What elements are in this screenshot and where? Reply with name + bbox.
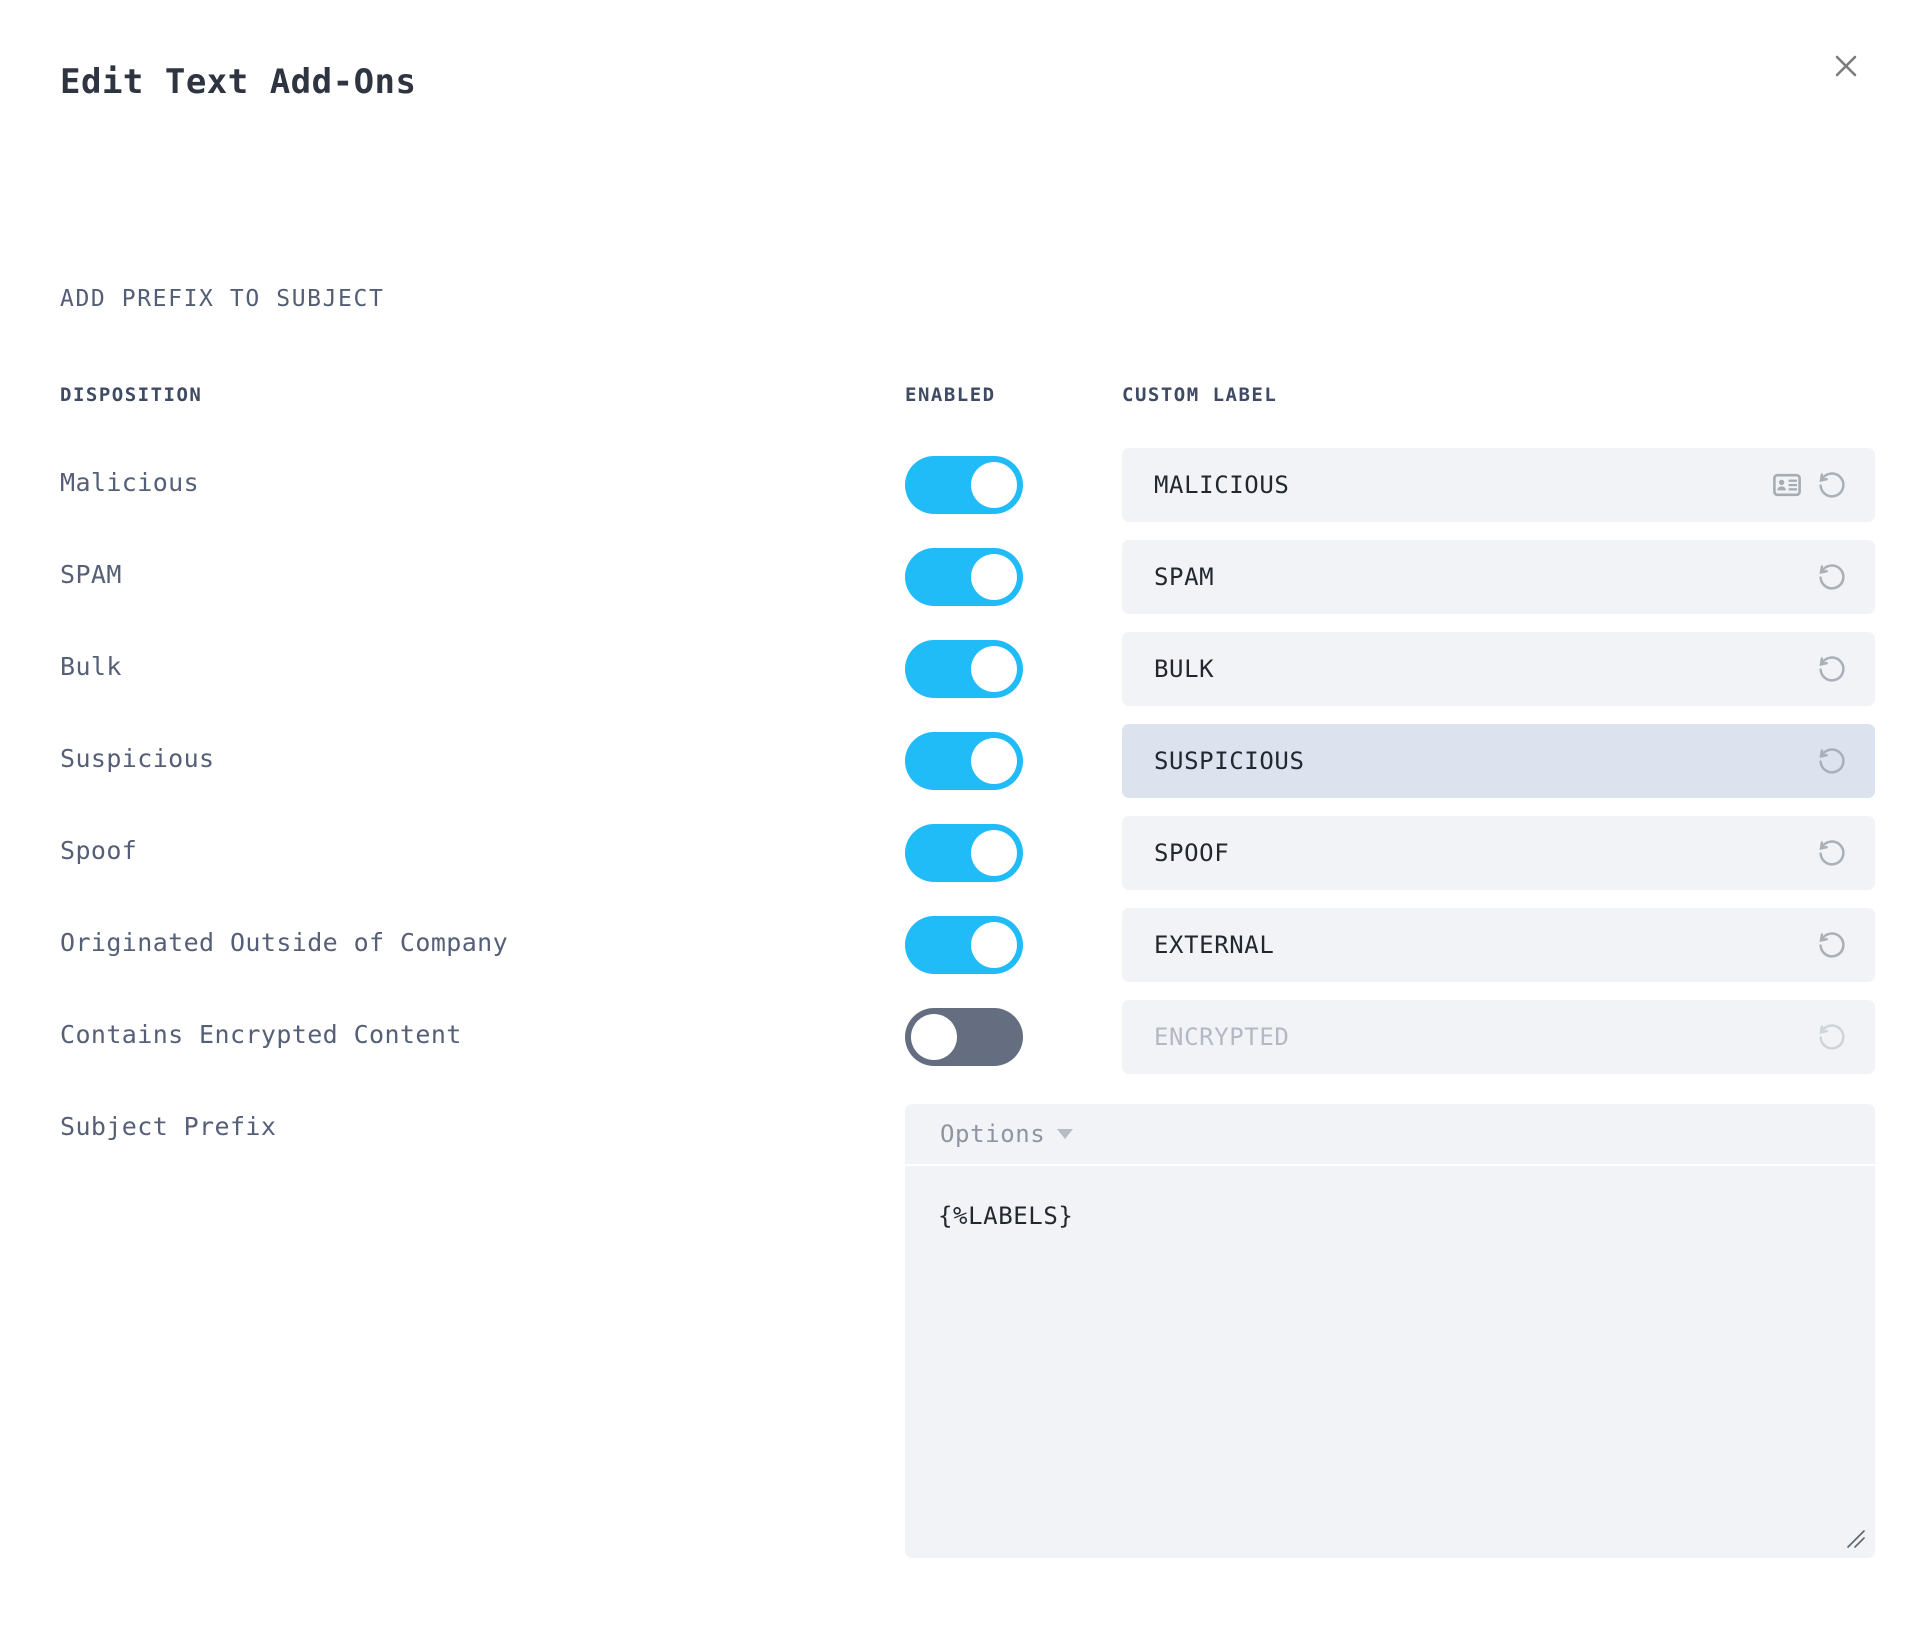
custom-label-field-spoof[interactable]: SPOOF xyxy=(1122,816,1875,890)
field-actions xyxy=(1815,836,1849,870)
column-header-disposition: DISPOSITION xyxy=(60,384,202,406)
custom-label-field-malicious[interactable]: MALICIOUS xyxy=(1122,448,1875,522)
table-row: SPAM SPAM xyxy=(0,540,1908,632)
custom-label-value: MALICIOUS xyxy=(1154,471,1773,499)
subject-prefix-value: {%LABELS} xyxy=(938,1202,1073,1230)
column-header-custom-label: CUSTOM LABEL xyxy=(1122,384,1277,406)
disposition-label: Malicious xyxy=(60,468,199,497)
chevron-down-icon xyxy=(1057,1129,1073,1139)
table-row: Suspicious SUSPICIOUS xyxy=(0,724,1908,816)
field-actions xyxy=(1815,652,1849,686)
custom-label-field-encrypted[interactable]: ENCRYPTED xyxy=(1122,1000,1875,1074)
contact-card-icon[interactable] xyxy=(1773,473,1801,497)
custom-label-field-suspicious[interactable]: SUSPICIOUS xyxy=(1122,724,1875,798)
disposition-label: SPAM xyxy=(60,560,122,589)
subject-prefix-label: Subject Prefix xyxy=(60,1112,276,1141)
table-row: Bulk BULK xyxy=(0,632,1908,724)
custom-label-field-spam[interactable]: SPAM xyxy=(1122,540,1875,614)
table-row: Malicious MALICIOUS xyxy=(0,448,1908,540)
table-row: Contains Encrypted Content ENCRYPTED xyxy=(0,1000,1908,1092)
enabled-toggle-encrypted[interactable] xyxy=(905,1008,1023,1066)
reset-icon[interactable] xyxy=(1815,560,1849,594)
enabled-toggle-spoof[interactable] xyxy=(905,824,1023,882)
field-actions xyxy=(1815,744,1849,778)
enabled-toggle-malicious[interactable] xyxy=(905,456,1023,514)
disposition-label: Spoof xyxy=(60,836,137,865)
reset-icon[interactable] xyxy=(1815,652,1849,686)
editor-toolbar: Options xyxy=(905,1104,1875,1166)
disposition-label: Contains Encrypted Content xyxy=(60,1020,462,1049)
custom-label-value: SPOOF xyxy=(1154,839,1815,867)
table-row: Originated Outside of Company EXTERNAL xyxy=(0,908,1908,1000)
toggle-knob xyxy=(911,1014,957,1060)
toggle-knob xyxy=(971,462,1017,508)
custom-label-value: SUSPICIOUS xyxy=(1154,747,1815,775)
options-dropdown-label: Options xyxy=(940,1120,1045,1148)
subject-prefix-editor: Options {%LABELS} xyxy=(905,1104,1875,1558)
table-row: Spoof SPOOF xyxy=(0,816,1908,908)
options-dropdown[interactable]: Options xyxy=(940,1120,1073,1148)
field-actions xyxy=(1815,1020,1849,1054)
reset-icon[interactable] xyxy=(1815,744,1849,778)
field-actions xyxy=(1815,560,1849,594)
field-actions xyxy=(1773,468,1849,502)
disposition-label: Originated Outside of Company xyxy=(60,928,508,957)
reset-icon[interactable] xyxy=(1815,928,1849,962)
section-label-add-prefix-to-subject: ADD PREFIX TO SUBJECT xyxy=(60,286,384,312)
toggle-knob xyxy=(971,922,1017,968)
toggle-knob xyxy=(971,646,1017,692)
edit-text-addons-dialog: Edit Text Add-Ons ADD PREFIX TO SUBJECT … xyxy=(0,0,1908,1650)
column-header-enabled: ENABLED xyxy=(905,384,996,406)
reset-icon[interactable] xyxy=(1815,468,1849,502)
custom-label-value: BULK xyxy=(1154,655,1815,683)
toggle-knob xyxy=(971,554,1017,600)
disposition-label: Suspicious xyxy=(60,744,215,773)
close-button[interactable] xyxy=(1820,40,1872,92)
field-actions xyxy=(1815,928,1849,962)
toggle-knob xyxy=(971,738,1017,784)
resize-handle-icon[interactable] xyxy=(1845,1528,1867,1550)
enabled-toggle-suspicious[interactable] xyxy=(905,732,1023,790)
table-header-row: DISPOSITION ENABLED CUSTOM LABEL xyxy=(0,384,1908,448)
reset-icon[interactable] xyxy=(1815,836,1849,870)
subject-prefix-textarea[interactable]: {%LABELS} xyxy=(905,1166,1875,1558)
enabled-toggle-external[interactable] xyxy=(905,916,1023,974)
toggle-knob xyxy=(971,830,1017,876)
close-icon xyxy=(1830,50,1862,82)
custom-label-field-external[interactable]: EXTERNAL xyxy=(1122,908,1875,982)
custom-label-value: EXTERNAL xyxy=(1154,931,1815,959)
page-title: Edit Text Add-Ons xyxy=(60,62,417,102)
enabled-toggle-spam[interactable] xyxy=(905,548,1023,606)
enabled-toggle-bulk[interactable] xyxy=(905,640,1023,698)
custom-label-field-bulk[interactable]: BULK xyxy=(1122,632,1875,706)
custom-label-value: SPAM xyxy=(1154,563,1815,591)
custom-label-value: ENCRYPTED xyxy=(1154,1023,1815,1051)
disposition-label: Bulk xyxy=(60,652,122,681)
reset-icon[interactable] xyxy=(1815,1020,1849,1054)
disposition-table: DISPOSITION ENABLED CUSTOM LABEL Malicio… xyxy=(0,384,1908,1184)
